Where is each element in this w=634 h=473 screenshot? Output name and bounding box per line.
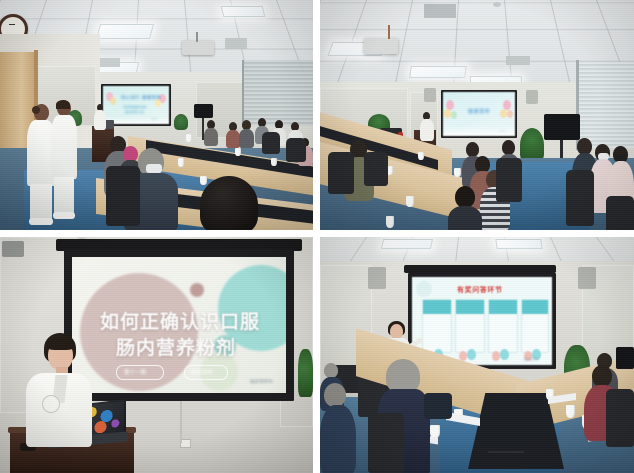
presenter-head (390, 324, 403, 339)
head (592, 365, 612, 387)
ceiling-light (221, 6, 266, 17)
chair (606, 196, 634, 230)
torso (239, 129, 254, 148)
slide-subtitle-1: 营养科健康教育讲座 (123, 105, 146, 109)
audience-member (320, 383, 356, 473)
decor-circle (416, 281, 432, 297)
slide-button-left-label: 第十一期 (124, 368, 146, 376)
ceiling-vent (424, 4, 456, 18)
presenter (420, 112, 434, 140)
handbag (424, 393, 452, 419)
chair (262, 132, 280, 154)
paper-cup (406, 196, 414, 207)
presenter-hair-front (46, 338, 75, 350)
paper-cup (271, 158, 277, 166)
slide-title: 健康营养 (468, 108, 490, 115)
audience-member (226, 122, 240, 148)
ceiling-light (381, 239, 433, 249)
balloon-decor (507, 110, 513, 118)
projection-screen: 同心同行 健康营养 营养科健康教育讲座 临床营养科 主办 营养科 (103, 86, 169, 124)
ceiling-smoke-detector (493, 2, 501, 7)
floor-cable (488, 451, 524, 453)
paper-cup (386, 216, 394, 228)
quiz-card-header (522, 300, 548, 314)
projector-mount (196, 32, 198, 42)
head (466, 142, 479, 157)
ceiling-grid (320, 237, 634, 262)
ceiling-vent (506, 56, 530, 65)
quiz-card (422, 299, 452, 353)
ceiling-projector (364, 38, 398, 54)
torso (226, 130, 240, 148)
ceiling-light (495, 239, 542, 249)
torso (448, 206, 482, 230)
photo-bottom-right: 有奖问答环节 (320, 237, 634, 473)
chair (368, 413, 404, 473)
chair (106, 166, 140, 226)
presenter-body (420, 119, 434, 141)
wall-speaker (526, 90, 538, 104)
tv-monitor (194, 104, 213, 118)
window-blinds (243, 60, 313, 126)
wall-speaker (368, 267, 386, 289)
wall-speaker (578, 267, 596, 289)
quiz-card (455, 299, 485, 353)
quiz-card (521, 299, 549, 353)
wall-speaker (2, 241, 24, 257)
photo-top-left: 同心同行 健康营养 营养科健康教育讲座 临床营养科 主办 营养科 (0, 0, 313, 230)
head (324, 383, 346, 407)
quiz-card-header (456, 300, 484, 314)
screen-roller-case (404, 265, 556, 273)
balloon-decor (110, 97, 116, 105)
balloon-decor (444, 109, 451, 118)
potted-plant (520, 128, 544, 162)
slide-wave (443, 126, 515, 136)
presenter-body (94, 110, 106, 130)
chair (606, 389, 634, 447)
slide-title-line-2: 肠内营养粉剂 (116, 333, 236, 360)
clock-hands (9, 24, 15, 25)
slide-subtitle-2: 临床营养科 主办 (125, 110, 144, 114)
projector-mount (388, 25, 390, 39)
potted-plant (174, 114, 188, 130)
nurse-coat (51, 115, 77, 179)
torso (204, 128, 218, 146)
window-blinds (578, 62, 634, 148)
presenter (22, 333, 94, 445)
ceiling-projector (182, 40, 214, 55)
balloon-decor (451, 111, 457, 119)
face-mask (146, 164, 162, 173)
projection-screen: 健康营养 营养科 (443, 92, 515, 136)
paper-cup (186, 134, 192, 142)
balloon-decor (500, 109, 507, 118)
paper-cup (178, 158, 184, 167)
slide-footer: 临床营养科 (524, 357, 539, 361)
nurse-standing (50, 100, 78, 220)
head (324, 363, 338, 378)
paper-cup (418, 152, 424, 160)
photo-collage: 同心同行 健康营养 营养科健康教育讲座 临床营养科 主办 营养科 (0, 0, 634, 473)
chair (328, 152, 354, 194)
audience-member (448, 186, 482, 230)
slide-button-right-label: 临床营养 (191, 368, 213, 376)
slide-title-line-1: 如何正确认识口服 (100, 307, 260, 334)
nurse-trousers (30, 184, 52, 220)
nurse-hair-bun (32, 106, 40, 114)
paper-cup (566, 405, 575, 418)
balloon-decor (492, 351, 500, 361)
slide-title: 同心同行 健康营养 (121, 95, 161, 101)
audience-foreground-back-of-head (200, 176, 258, 230)
head (502, 140, 515, 155)
slide-footer: 临床营养科 (250, 379, 273, 385)
decor-circle-small-mauve (190, 283, 204, 297)
paper-cup (454, 168, 461, 177)
photo-top-right: 健康营养 营养科 (320, 0, 634, 230)
nurse-hair (56, 100, 70, 109)
paper-cup (235, 148, 241, 156)
chair (496, 158, 522, 202)
balloon-decor (467, 349, 476, 360)
balloon-decor (500, 349, 509, 360)
audience-member (204, 120, 218, 146)
quiz-card-header (489, 300, 517, 314)
photo-bottom-left: 如何正确认识口服 肠内营养粉剂 第十一期 临床营养 临床营养科 (0, 237, 313, 473)
labcoat-badge (42, 395, 60, 413)
quiz-card-header (423, 300, 451, 314)
quiz-card (488, 299, 518, 353)
tv-monitor (616, 347, 634, 369)
ceiling-light (409, 66, 467, 78)
ceiling-light (96, 24, 154, 39)
nurse-trousers (54, 177, 74, 213)
wall-speaker (424, 88, 436, 102)
chair (364, 152, 388, 186)
chair (566, 170, 594, 226)
ceiling-vent (225, 38, 247, 49)
window-frame (242, 60, 244, 126)
chair (286, 138, 306, 162)
potted-plant (298, 349, 313, 397)
torso (320, 405, 356, 473)
presenter (94, 104, 106, 130)
audience-member (239, 120, 254, 148)
nurse-shoes (53, 212, 75, 219)
tv-monitor (544, 114, 580, 140)
head (455, 186, 475, 208)
slide-title: 有奖问答环节 (457, 285, 503, 295)
head (200, 176, 258, 230)
hair-grey (386, 359, 420, 393)
projection-screen: 如何正确认识口服 肠内营养粉剂 第十一期 临床营养 临床营养科 (72, 257, 286, 393)
